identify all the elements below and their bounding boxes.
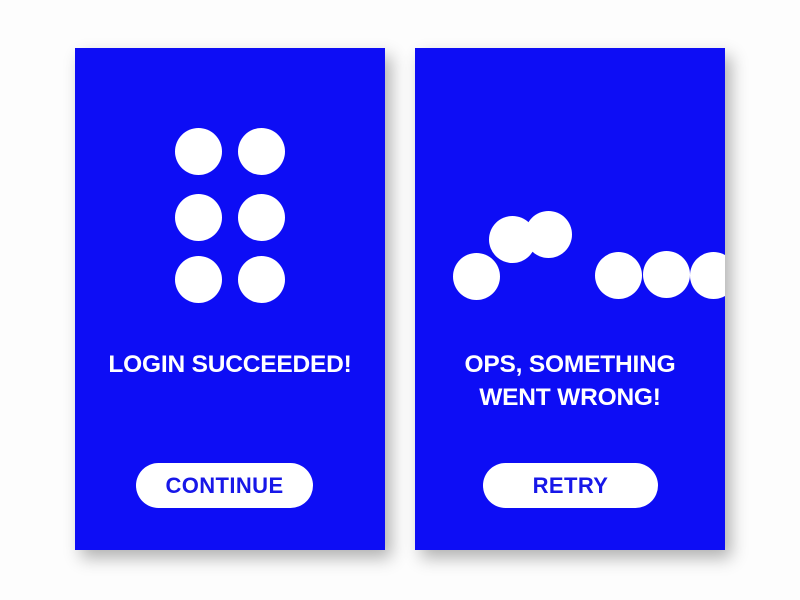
- error-message-line-1: OPS, SOMETHING: [433, 348, 707, 381]
- success-message-line-1: LOGIN SUCCEEDED!: [93, 348, 367, 381]
- error-card: OPS, SOMETHING WENT WRONG! RETRY: [415, 48, 725, 550]
- grid-dot: [175, 194, 222, 241]
- success-illustration: [75, 48, 385, 348]
- screen-canvas: LOGIN SUCCEEDED! CONTINUE OPS, SOMETHING…: [0, 0, 800, 600]
- scattered-dot: [595, 252, 642, 299]
- error-illustration: [415, 48, 725, 348]
- grid-dot: [238, 128, 285, 175]
- retry-button[interactable]: RETRY: [483, 463, 658, 508]
- continue-button-label: CONTINUE: [165, 473, 283, 499]
- continue-button[interactable]: CONTINUE: [136, 463, 313, 508]
- error-message-line-2: WENT WRONG!: [433, 381, 707, 414]
- grid-dot: [238, 256, 285, 303]
- scattered-dot: [643, 251, 690, 298]
- scattered-dot: [453, 253, 500, 300]
- retry-button-label: RETRY: [533, 473, 609, 499]
- grid-dot: [175, 128, 222, 175]
- grid-dot: [238, 194, 285, 241]
- scattered-dot: [525, 211, 572, 258]
- scattered-dot: [690, 252, 725, 299]
- grid-dot: [175, 256, 222, 303]
- success-message: LOGIN SUCCEEDED!: [75, 348, 385, 381]
- success-card: LOGIN SUCCEEDED! CONTINUE: [75, 48, 385, 550]
- error-message: OPS, SOMETHING WENT WRONG!: [415, 348, 725, 414]
